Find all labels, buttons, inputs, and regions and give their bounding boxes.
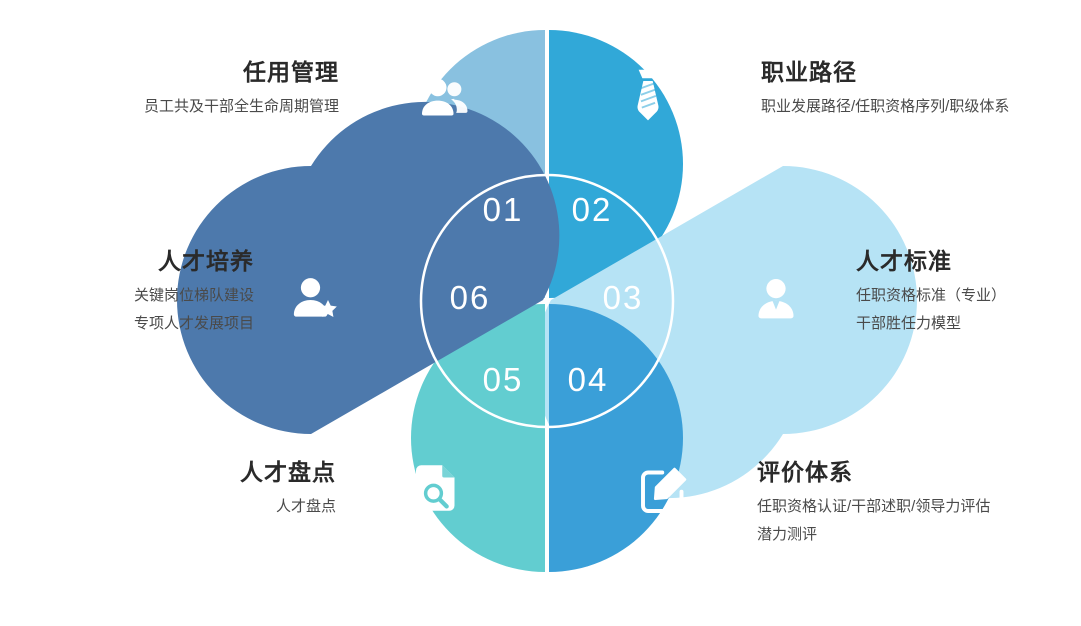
person-badge-icon (748, 272, 804, 328)
segment-number-02: 02 (572, 191, 613, 228)
segment-number-01: 01 (483, 191, 524, 228)
necktie-icon (623, 66, 673, 126)
label-desc-04-line-1: 任职资格认证/干部述职/领导力评估 (757, 494, 990, 520)
label-desc-03-line-2: 干部胜任力模型 (856, 311, 1006, 337)
document-search-icon (409, 460, 465, 516)
label-title-06: 人才培养 (134, 247, 254, 276)
diagram-canvas: 01 02 03 04 05 06 (0, 0, 1081, 626)
label-desc-04-line-2: 潜力测评 (757, 522, 990, 548)
segment-number-04: 04 (568, 361, 609, 398)
segment-number-03: 03 (603, 279, 644, 316)
label-title-05: 人才盘点 (240, 458, 336, 487)
label-desc-02-line-1: 职业发展路径/任职资格序列/职级体系 (761, 94, 1009, 120)
label-block-04: 评价体系 任职资格认证/干部述职/领导力评估 潜力测评 (757, 458, 990, 548)
users-icon (415, 70, 471, 126)
label-title-04: 评价体系 (757, 458, 990, 487)
label-block-05: 人才盘点 人才盘点 (240, 458, 336, 520)
label-desc-05-line-1: 人才盘点 (240, 494, 336, 520)
label-block-03: 人才标准 任职资格标准（专业） 干部胜任力模型 (856, 247, 1006, 337)
edit-square-icon (636, 462, 692, 518)
label-block-06: 人才培养 关键岗位梯队建设 专项人才发展项目 (134, 247, 254, 337)
label-desc-03-line-1: 任职资格标准（专业） (856, 283, 1006, 309)
person-star-icon (286, 272, 342, 328)
label-desc-06-line-1: 关键岗位梯队建设 (134, 283, 254, 309)
label-desc-01-line-1: 员工共及干部全生命周期管理 (144, 94, 339, 120)
label-block-01: 任用管理 员工共及干部全生命周期管理 (144, 58, 339, 120)
label-title-01: 任用管理 (144, 58, 339, 87)
label-block-02: 职业路径 职业发展路径/任职资格序列/职级体系 (761, 58, 1009, 120)
label-title-03: 人才标准 (856, 247, 1006, 276)
segment-number-06: 06 (450, 279, 491, 316)
segment-number-05: 05 (483, 361, 524, 398)
label-title-02: 职业路径 (761, 58, 1009, 87)
label-desc-06-line-2: 专项人才发展项目 (134, 311, 254, 337)
